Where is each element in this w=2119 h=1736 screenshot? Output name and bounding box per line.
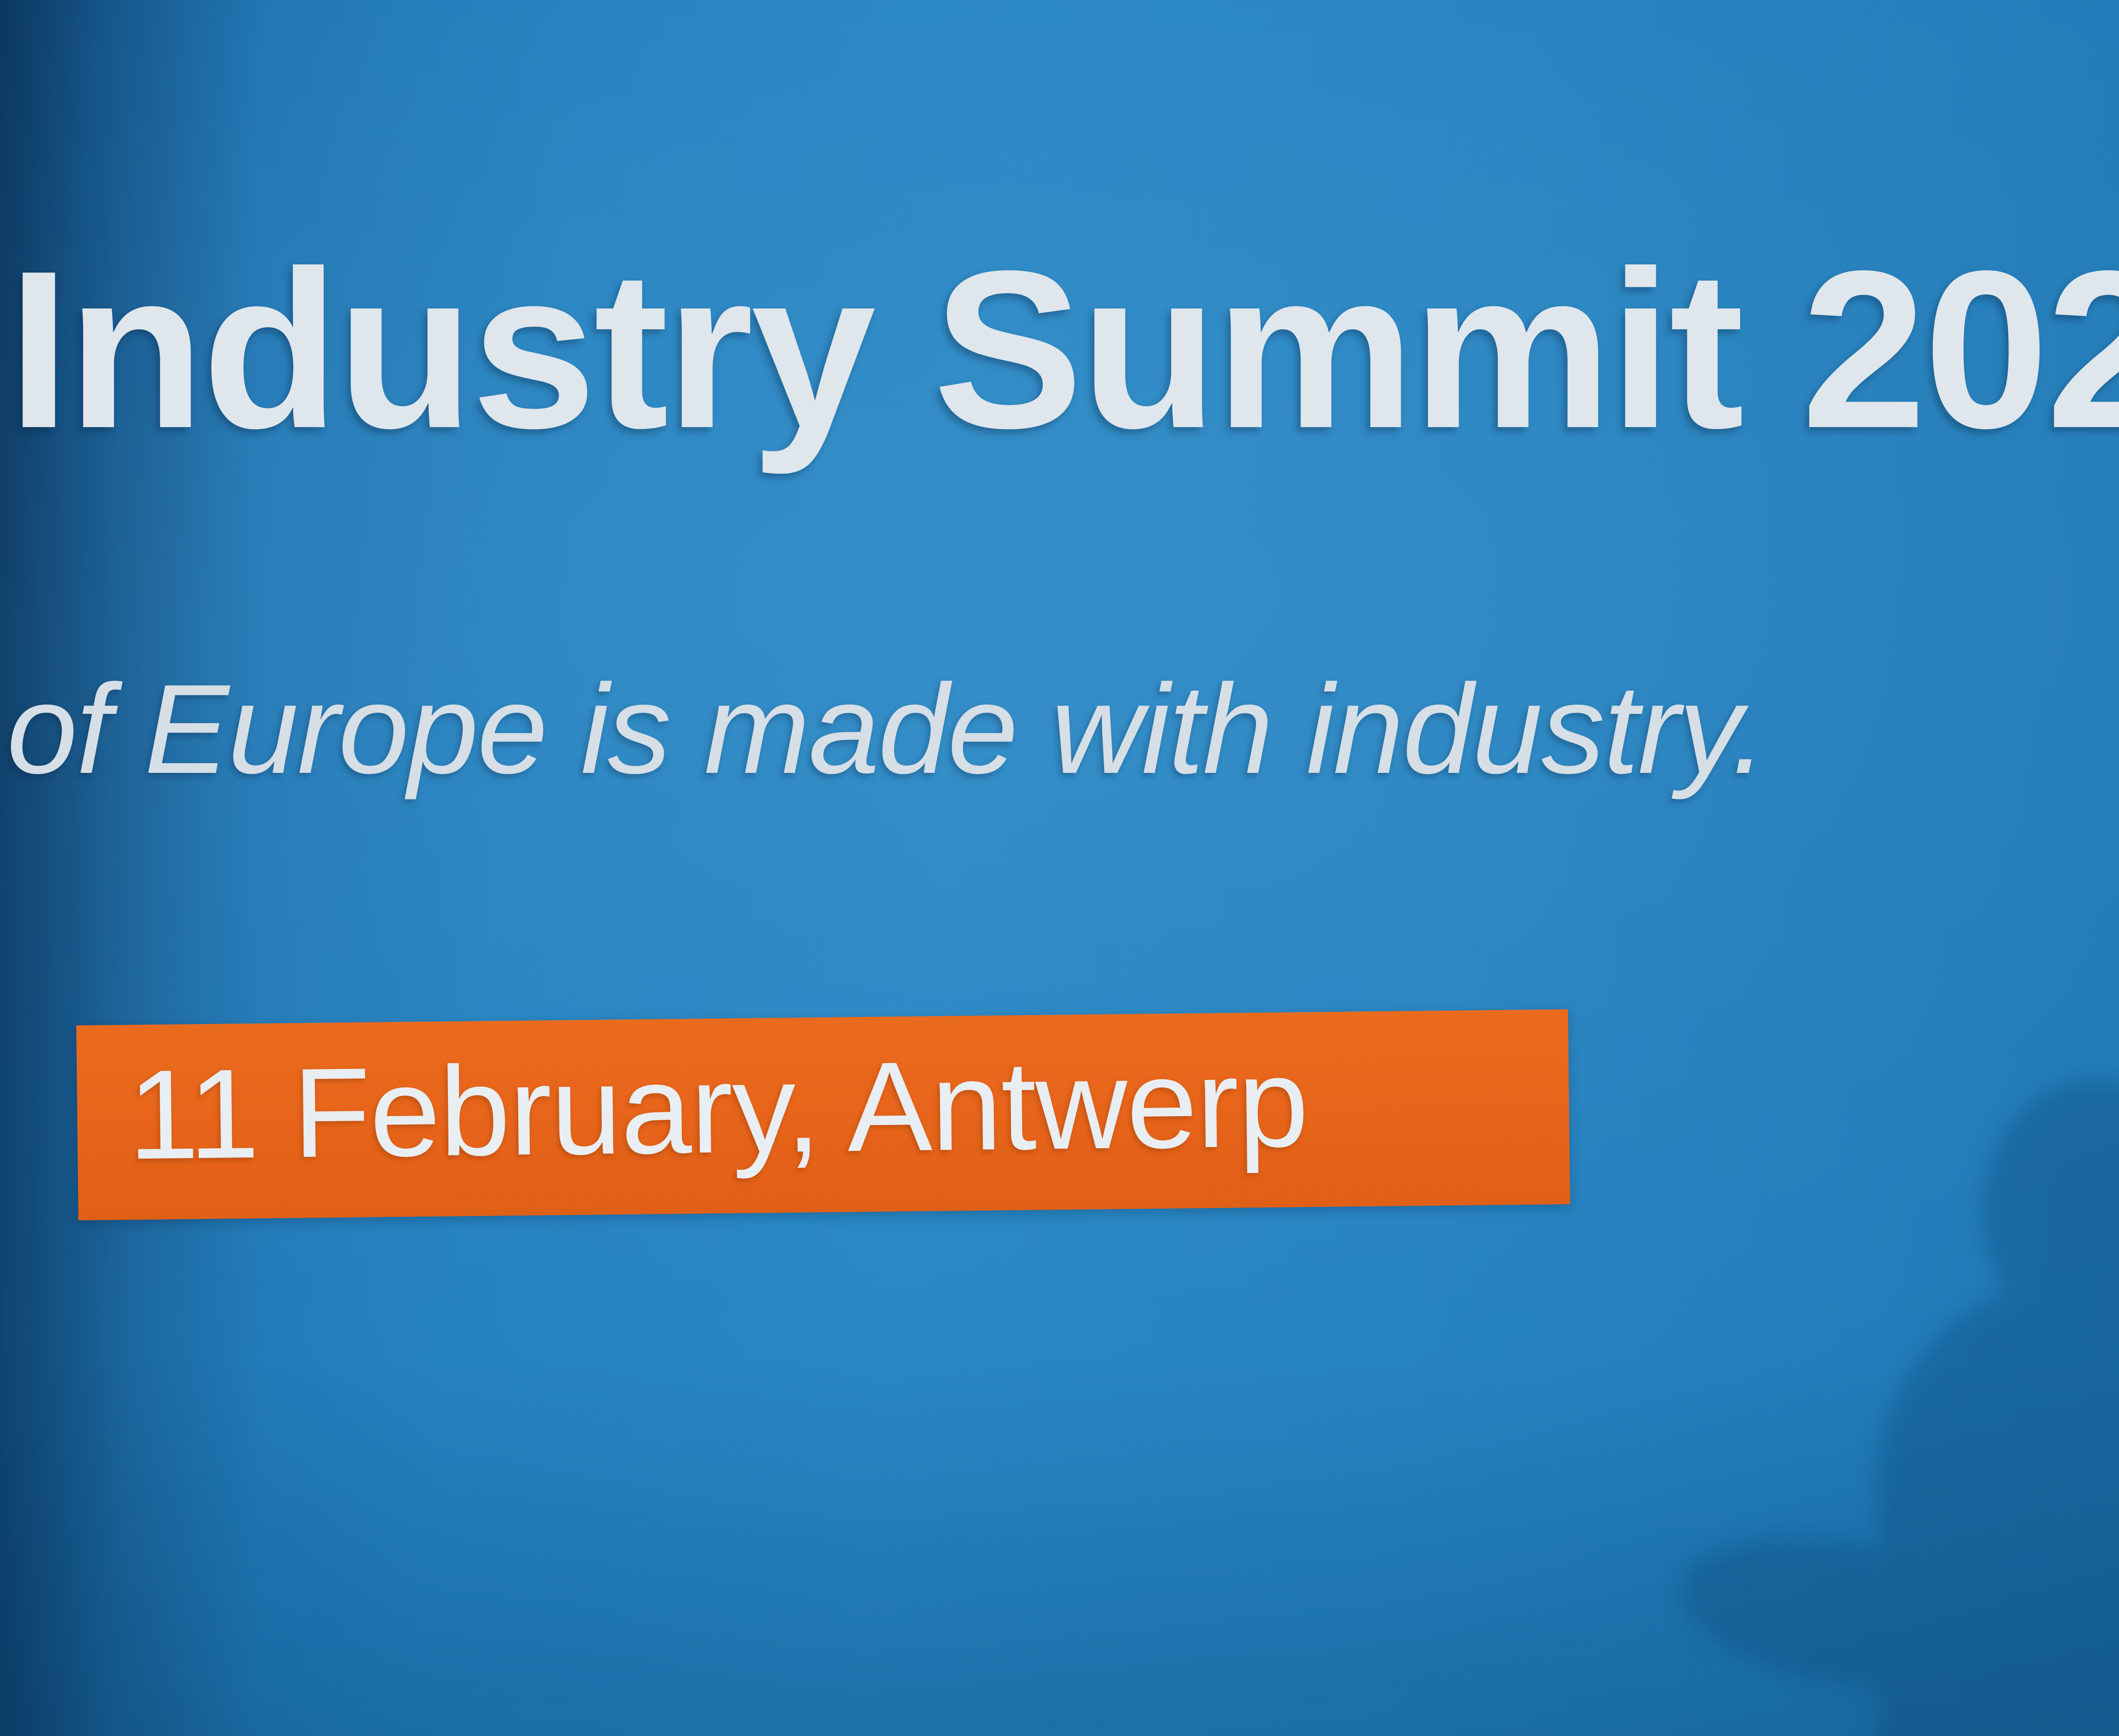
screenshot-root: Industry Summit 2026 of Europe is made w… xyxy=(0,0,2119,1736)
backdrop-subheadline: of Europe is made with industry. xyxy=(7,665,1766,792)
photo-stage: Industry Summit 2026 of Europe is made w… xyxy=(0,0,2119,1736)
backdrop-date-banner: 11 February, Antwerp xyxy=(76,1009,1570,1220)
speaker-cast-shadow xyxy=(1771,1068,2119,1736)
backdrop-headline: Industry Summit 2026 xyxy=(8,237,2119,462)
backdrop-date-banner-label: 11 February, Antwerp xyxy=(128,1039,1309,1178)
